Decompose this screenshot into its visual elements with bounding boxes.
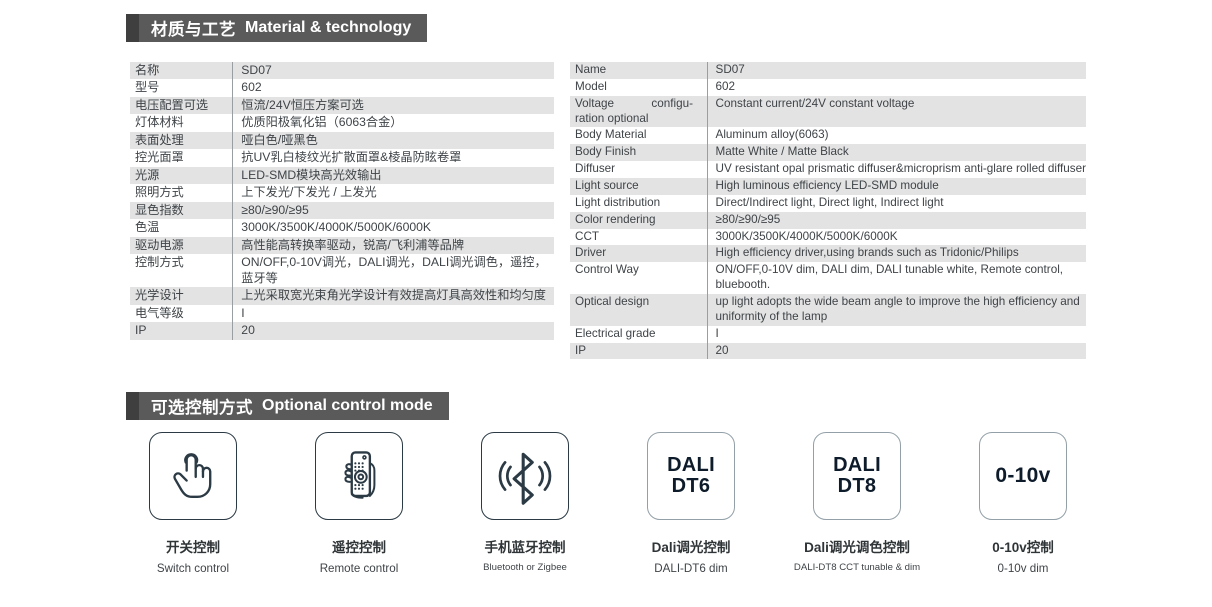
- spec-row: Light sourceHigh luminous efficiency LED…: [570, 178, 1086, 195]
- control-mode-label-cn: Dali调光控制: [652, 536, 731, 556]
- spec-row-value: 优质阳极氧化铝（6063合金）: [233, 114, 554, 131]
- spec-row-key: 驱动电源: [130, 237, 233, 254]
- control-mode-item[interactable]: DALIDT8Dali调光调色控制DALI-DT8 CCT tunable & …: [782, 432, 932, 575]
- spec-row-value: UV resistant opal prismatic diffuser&mic…: [707, 161, 1086, 178]
- spec-row-value: ≥80/≥90/≥95: [707, 212, 1086, 229]
- spec-row: 光源LED-SMD模块高光效输出: [130, 167, 554, 184]
- spec-row-key: 灯体材料: [130, 114, 233, 131]
- spec-row-key: 电气等级: [130, 305, 233, 322]
- mode-icon-text-line1: 0-10v: [995, 464, 1050, 487]
- spec-row: 型号602: [130, 79, 554, 96]
- spec-row-value: I: [707, 326, 1086, 343]
- spec-row-key: 表面处理: [130, 132, 233, 149]
- spec-row-value: 20: [707, 343, 1086, 360]
- spec-row-value: SD07: [707, 62, 1086, 79]
- spec-row: IP20: [130, 322, 554, 339]
- spec-row: Body FinishMatte White / Matte Black: [570, 144, 1086, 161]
- spec-row: 名称SD07: [130, 62, 554, 79]
- spec-row: 灯体材料优质阳极氧化铝（6063合金）: [130, 114, 554, 131]
- remote-control-icon-glyph: [330, 447, 388, 505]
- spec-row-value: 抗UV乳白棱纹光扩散面罩&棱晶防眩卷罩: [233, 149, 554, 166]
- control-mode-label-cn: 0-10v控制: [992, 536, 1054, 556]
- spec-row-value: ON/OFF,0-10V dim, DALI dim, DALI tunable…: [707, 262, 1086, 294]
- spec-row-value: Matte White / Matte Black: [707, 144, 1086, 161]
- spec-row-value: ON/OFF,0-10V调光，DALI调光，DALI调光调色，遥控，蓝牙等: [233, 254, 554, 287]
- spec-row-key: 控光面罩: [130, 149, 233, 166]
- mode-icon-text-line1: DALI: [833, 454, 881, 476]
- spec-row: 表面处理哑白色/哑黑色: [130, 132, 554, 149]
- control-mode-label-en: DALI-DT6 dim: [654, 562, 727, 575]
- section-header-control-mode: 可选控制方式 Optional control mode: [126, 392, 449, 420]
- spec-row-key: 色温: [130, 219, 233, 236]
- spec-row-key: Model: [570, 79, 707, 96]
- spec-row: 控光面罩抗UV乳白棱纹光扩散面罩&棱晶防眩卷罩: [130, 149, 554, 166]
- control-mode-label-cn: Dali调光调色控制: [804, 536, 910, 556]
- control-mode-item[interactable]: 手机蓝牙控制Bluetooth or Zigbee: [450, 432, 600, 575]
- spec-row-value: High luminous efficiency LED-SMD module: [707, 178, 1086, 195]
- spec-row-value: I: [233, 305, 554, 322]
- bluetooth-signal-icon[interactable]: [481, 432, 569, 520]
- mode-icon-text: DALIDT8: [833, 455, 881, 497]
- section-header-material: 材质与工艺 Material & technology: [126, 14, 427, 42]
- spec-row-key: 电压配置可选: [130, 97, 233, 114]
- touch-hand-icon[interactable]: [149, 432, 237, 520]
- spec-row: 电气等级I: [130, 305, 554, 322]
- spec-row-value: Constant current/24V constant voltage: [707, 96, 1086, 128]
- zero-to-ten-volt-icon[interactable]: 0-10v: [979, 432, 1067, 520]
- spec-table-chinese: 名称SD07型号602电压配置可选恒流/24V恒压方案可选灯体材料优质阳极氧化铝…: [130, 62, 554, 340]
- spec-row: Optical designup light adopts the wide b…: [570, 294, 1086, 326]
- spec-row-key: Body Finish: [570, 144, 707, 161]
- mode-icon-text: 0-10v: [995, 465, 1050, 487]
- spec-row: DriverHigh efficiency driver,using brand…: [570, 245, 1086, 262]
- spec-row: 驱动电源高性能高转换率驱动，锐高/飞利浦等品牌: [130, 237, 554, 254]
- spec-row-key: Light distribution: [570, 195, 707, 212]
- remote-control-icon[interactable]: [315, 432, 403, 520]
- control-mode-label-en: Remote control: [320, 562, 399, 575]
- spec-row-value: High efficiency driver,using brands such…: [707, 245, 1086, 262]
- bluetooth-signal-icon-glyph: [496, 447, 554, 505]
- header-title-en: Optional control mode: [262, 397, 433, 415]
- spec-row: IP20: [570, 343, 1086, 360]
- spec-row: 照明方式上下发光/下发光 / 上发光: [130, 184, 554, 201]
- control-mode-label-cn: 手机蓝牙控制: [485, 536, 566, 556]
- spec-row-key: IP: [570, 343, 707, 360]
- mode-icon-text-line2: DT8: [833, 476, 881, 497]
- spec-row-key: Light source: [570, 178, 707, 195]
- header-titles: 可选控制方式 Optional control mode: [139, 392, 449, 420]
- control-mode-list: 开关控制Switch control遥控控制Remote control手机蓝牙…: [118, 432, 1098, 575]
- control-mode-label-en: Switch control: [157, 562, 229, 575]
- control-mode-item[interactable]: DALIDT6Dali调光控制DALI-DT6 dim: [616, 432, 766, 575]
- control-mode-label-cn: 遥控控制: [332, 536, 386, 556]
- spec-table-chinese-body: 名称SD07型号602电压配置可选恒流/24V恒压方案可选灯体材料优质阳极氧化铝…: [130, 62, 554, 340]
- spec-row: 光学设计上光采取宽光束角光学设计有效提高灯具高效性和均匀度: [130, 287, 554, 304]
- header-title-en: Material & technology: [245, 19, 411, 37]
- spec-row-key: 名称: [130, 62, 233, 79]
- spec-row-key: Body Material: [570, 127, 707, 144]
- spec-row: 显色指数≥80/≥90/≥95: [130, 202, 554, 219]
- spec-row-value: ≥80/≥90/≥95: [233, 202, 554, 219]
- spec-row-key: 控制方式: [130, 254, 233, 287]
- touch-hand-icon-glyph: [164, 447, 222, 505]
- spec-row: 色温3000K/3500K/4000K/5000K/6000K: [130, 219, 554, 236]
- header-title-cn: 材质与工艺: [151, 16, 236, 40]
- spec-row-value: 哑白色/哑黑色: [233, 132, 554, 149]
- header-accent-block: [126, 392, 139, 420]
- spec-row: 控制方式ON/OFF,0-10V调光，DALI调光，DALI调光调色，遥控，蓝牙…: [130, 254, 554, 287]
- spec-row-value: 602: [233, 79, 554, 96]
- control-mode-label-en: 0-10v dim: [998, 562, 1049, 575]
- dali-dt8-icon[interactable]: DALIDT8: [813, 432, 901, 520]
- spec-row: CCT3000K/3500K/4000K/5000K/6000K: [570, 229, 1086, 246]
- spec-row: Model602: [570, 79, 1086, 96]
- header-title-cn: 可选控制方式: [151, 394, 253, 418]
- spec-table-english-body: NameSD07Model602Voltage configu-ration o…: [570, 62, 1086, 359]
- spec-row-value: up light adopts the wide beam angle to i…: [707, 294, 1086, 326]
- spec-row-key: Diffuser: [570, 161, 707, 178]
- spec-row-key: 显色指数: [130, 202, 233, 219]
- spec-row-key: Control Way: [570, 262, 707, 294]
- control-mode-label-en: Bluetooth or Zigbee: [483, 562, 567, 573]
- spec-row-key: Driver: [570, 245, 707, 262]
- spec-row-key: Optical design: [570, 294, 707, 326]
- spec-row-value: 上下发光/下发光 / 上发光: [233, 184, 554, 201]
- control-mode-item[interactable]: 开关控制Switch control: [118, 432, 268, 575]
- spec-row: 电压配置可选恒流/24V恒压方案可选: [130, 97, 554, 114]
- spec-row-key: 光源: [130, 167, 233, 184]
- spec-row: NameSD07: [570, 62, 1086, 79]
- spec-row-value: 3000K/3500K/4000K/5000K/6000K: [233, 219, 554, 236]
- spec-row-value: 20: [233, 322, 554, 339]
- control-mode-label-en: DALI-DT8 CCT tunable & dim: [794, 562, 920, 573]
- header-titles: 材质与工艺 Material & technology: [139, 14, 427, 42]
- mode-icon-text-line1: DALI: [667, 454, 715, 476]
- spec-row-key: Name: [570, 62, 707, 79]
- dali-dt6-icon[interactable]: DALIDT6: [647, 432, 735, 520]
- spec-row: Light distributionDirect/Indirect light,…: [570, 195, 1086, 212]
- spec-row-key: 型号: [130, 79, 233, 96]
- spec-row: DiffuserUV resistant opal prismatic diff…: [570, 161, 1086, 178]
- spec-row-value: 恒流/24V恒压方案可选: [233, 97, 554, 114]
- control-mode-item[interactable]: 遥控控制Remote control: [284, 432, 434, 575]
- spec-row-key: Voltage configu-ration optional: [570, 96, 707, 128]
- spec-row-key: IP: [130, 322, 233, 339]
- spec-row-value: 高性能高转换率驱动，锐高/飞利浦等品牌: [233, 237, 554, 254]
- spec-row-key: 光学设计: [130, 287, 233, 304]
- mode-icon-text-line2: DT6: [667, 476, 715, 497]
- spec-row: Voltage configu-ration optionalConstant …: [570, 96, 1086, 128]
- control-mode-label-cn: 开关控制: [166, 536, 220, 556]
- mode-icon-text: DALIDT6: [667, 455, 715, 497]
- spec-row-value: 3000K/3500K/4000K/5000K/6000K: [707, 229, 1086, 246]
- spec-row-value: 上光采取宽光束角光学设计有效提高灯具高效性和均匀度: [233, 287, 554, 304]
- spec-row-value: Aluminum alloy(6063): [707, 127, 1086, 144]
- header-accent-block: [126, 14, 139, 42]
- spec-row-value: LED-SMD模块高光效输出: [233, 167, 554, 184]
- spec-row-key: Electrical grade: [570, 326, 707, 343]
- control-mode-item[interactable]: 0-10v0-10v控制0-10v dim: [948, 432, 1098, 575]
- spec-row: Body MaterialAluminum alloy(6063): [570, 127, 1086, 144]
- spec-row-value: Direct/Indirect light, Direct light, Ind…: [707, 195, 1086, 212]
- spec-row-value: SD07: [233, 62, 554, 79]
- spec-row-key: 照明方式: [130, 184, 233, 201]
- spec-row-key: CCT: [570, 229, 707, 246]
- spec-row-value: 602: [707, 79, 1086, 96]
- spec-row: Control WayON/OFF,0-10V dim, DALI dim, D…: [570, 262, 1086, 294]
- spec-row-key: Color rendering: [570, 212, 707, 229]
- spec-table-english: NameSD07Model602Voltage configu-ration o…: [570, 62, 1086, 359]
- spec-row: Color rendering≥80/≥90/≥95: [570, 212, 1086, 229]
- spec-row: Electrical gradeI: [570, 326, 1086, 343]
